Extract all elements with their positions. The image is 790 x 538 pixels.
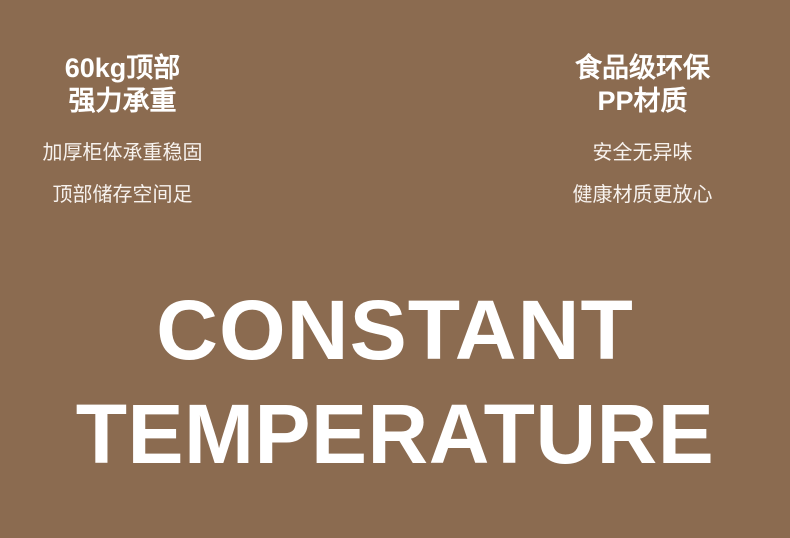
- feature-heading-line1: 60kg顶部: [65, 52, 181, 85]
- feature-subtext-line1: 加厚柜体承重稳固: [43, 142, 203, 164]
- feature-subtext-line1: 安全无异味: [593, 142, 693, 164]
- feature-column-material: 食品级环保 PP材质 安全无异味 健康材质更放心: [395, 52, 790, 206]
- feature-heading-line2: PP材质: [597, 85, 687, 118]
- promo-banner: 60kg顶部 强力承重 加厚柜体承重稳固 顶部储存空间足 食品级环保 PP材质 …: [0, 0, 790, 538]
- feature-column-load-capacity: 60kg顶部 强力承重 加厚柜体承重稳固 顶部储存空间足: [0, 52, 395, 206]
- feature-subtext-line2: 顶部储存空间足: [53, 184, 193, 206]
- feature-columns: 60kg顶部 强力承重 加厚柜体承重稳固 顶部储存空间足 食品级环保 PP材质 …: [0, 52, 790, 206]
- feature-heading-line1: 食品级环保: [575, 52, 710, 85]
- headline-line-constant: CONSTANT: [0, 288, 790, 372]
- feature-heading-line2: 强力承重: [69, 85, 177, 118]
- headline-line-temperature: TEMPERATURE: [0, 392, 790, 476]
- feature-subtext-line2: 健康材质更放心: [573, 184, 713, 206]
